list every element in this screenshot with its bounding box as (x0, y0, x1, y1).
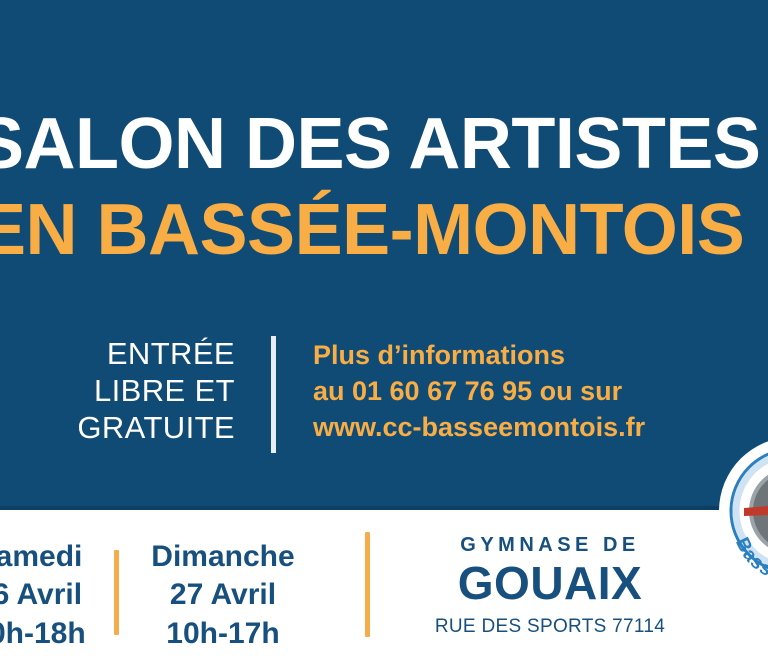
more-info-website[interactable]: www.cc-basseemontois.fr (313, 410, 645, 446)
headline-line-1: SALON DES ARTISTES (0, 108, 760, 180)
venue-prefix: GYMNASE DE (430, 534, 670, 557)
poster-info-row: ENTRÉE LIBRE ET GRATUITE Plus d’informat… (0, 330, 768, 465)
more-info-phone: au 01 60 67 76 95 ou sur (313, 374, 645, 410)
date-block-saturday: Samedi 26 Avril 10h-18h (0, 538, 104, 653)
date-block-sunday: Dimanche 27 Avril 10h-17h (148, 538, 298, 653)
headline-line-2: EN BASSÉE-MONTOIS (0, 194, 744, 266)
free-entry-block: ENTRÉE LIBRE ET GRATUITE (30, 336, 235, 447)
poster-headline: SALON DES ARTISTES EN BASSÉE-MONTOIS (0, 108, 768, 278)
date-date-saturday: 26 Avril (0, 576, 104, 614)
divider-bar-2 (365, 532, 370, 637)
date-hours-saturday: 10h-18h (0, 615, 104, 653)
event-poster: SALON DES ARTISTES EN BASSÉE-MONTOIS ENT… (0, 0, 768, 672)
date-day-saturday: Samedi (0, 538, 104, 576)
date-hours-sunday: 10h-17h (148, 615, 298, 653)
venue-name: GOUAIX (430, 558, 670, 610)
venue-address: RUE DES SPORTS 77114 (430, 616, 670, 639)
free-entry-line-1: ENTRÉE (30, 336, 235, 373)
vertical-divider-white (271, 336, 276, 453)
poster-bottom-band: Samedi 26 Avril 10h-18h Dimanche 27 Avri… (0, 510, 768, 672)
divider-bar-1 (114, 550, 119, 635)
venue-block: GYMNASE DE GOUAIX RUE DES SPORTS 77114 (430, 534, 670, 638)
more-info-line-1: Plus d’informations (313, 338, 645, 374)
date-date-sunday: 27 Avril (148, 576, 298, 614)
more-info-block: Plus d’informations au 01 60 67 76 95 ou… (313, 338, 645, 446)
free-entry-line-3: GRATUITE (30, 410, 235, 447)
compass-rose-icon: Bassée (718, 436, 768, 586)
date-day-sunday: Dimanche (148, 538, 298, 576)
free-entry-line-2: LIBRE ET (30, 373, 235, 410)
